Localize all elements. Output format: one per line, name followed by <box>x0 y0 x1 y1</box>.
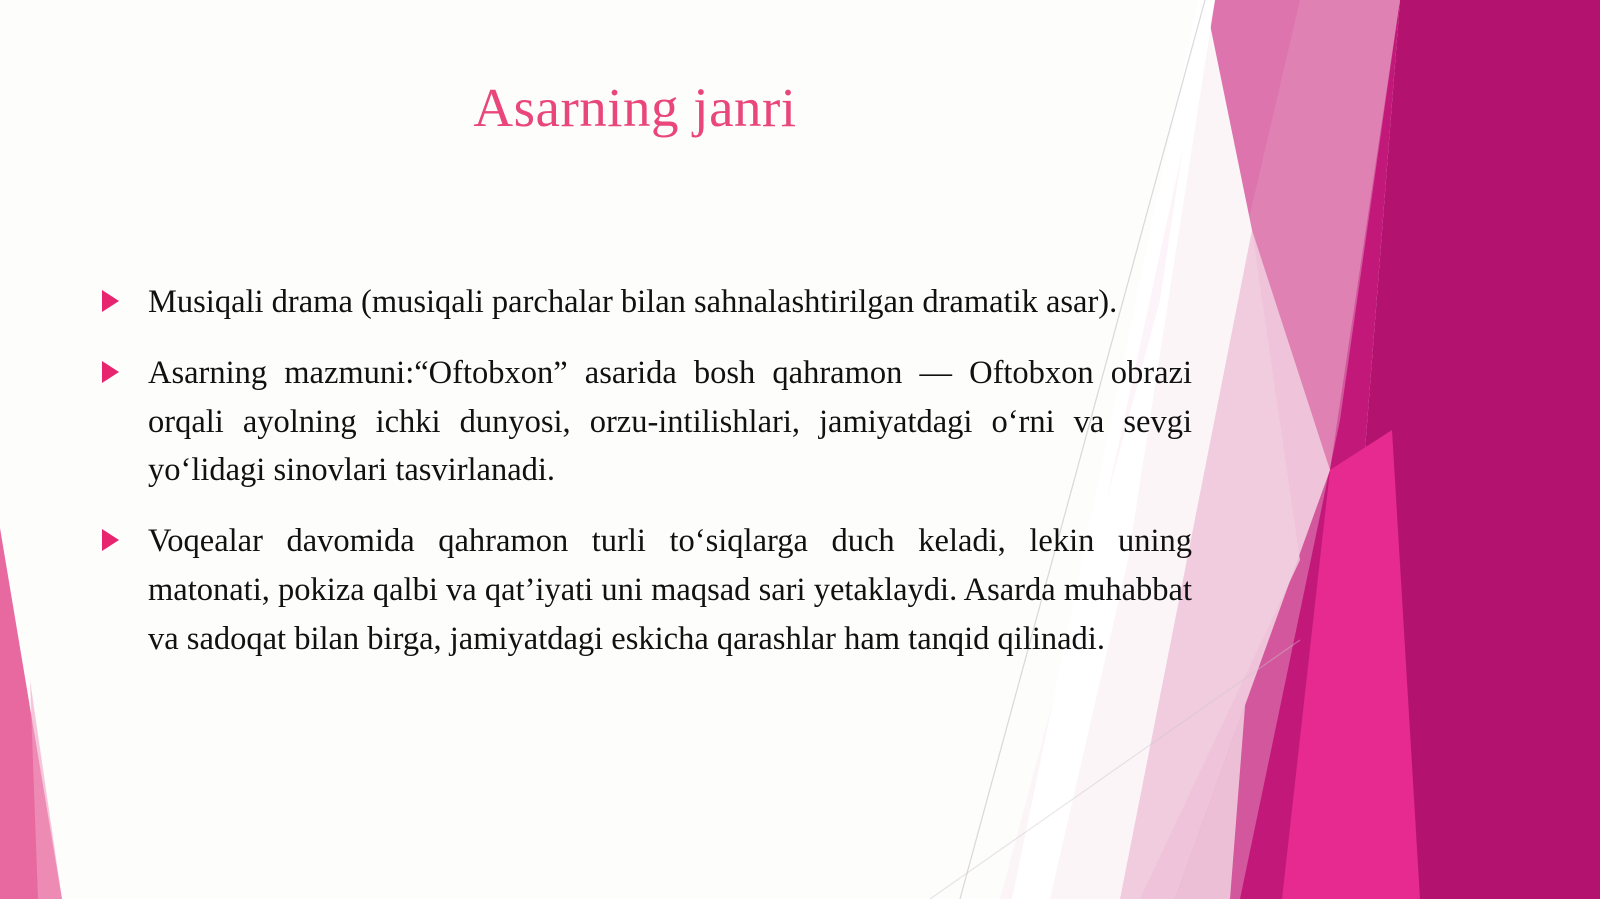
decor-shape-hot-pink-sliver <box>1282 430 1420 899</box>
decor-shape-deep-magenta-right <box>1330 0 1600 899</box>
decor-shape-magenta-wedge <box>1230 0 1400 899</box>
list-item-text: Asarning mazmuni:“Oftobxon” asarida bosh… <box>148 349 1192 495</box>
list-item: Voqealar davomida qahramon turli to‘siql… <box>96 517 1192 663</box>
presentation-slide: Asarning janri Musiqali drama (musiqali … <box>0 0 1600 899</box>
list-item-text: Musiqali drama (musiqali parchalar bilan… <box>148 278 1192 327</box>
list-item-text: Voqealar davomida qahramon turli to‘siql… <box>148 517 1192 663</box>
triangle-right-icon <box>102 529 119 551</box>
list-item: Asarning mazmuni:“Oftobxon” asarida bosh… <box>96 349 1192 495</box>
title-area: Asarning janri <box>80 78 1190 139</box>
body-content: Musiqali drama (musiqali parchalar bilan… <box>96 278 1192 663</box>
triangle-right-icon <box>102 290 119 312</box>
page-title: Asarning janri <box>80 78 1190 139</box>
list-item: Musiqali drama (musiqali parchalar bilan… <box>96 278 1192 327</box>
decor-shape-bottom-left-wedge-light <box>30 680 62 899</box>
triangle-right-icon <box>102 361 119 383</box>
decor-shape-bottom-left-wedge <box>0 528 62 899</box>
decor-hairline-diagonal-lower <box>930 640 1300 899</box>
